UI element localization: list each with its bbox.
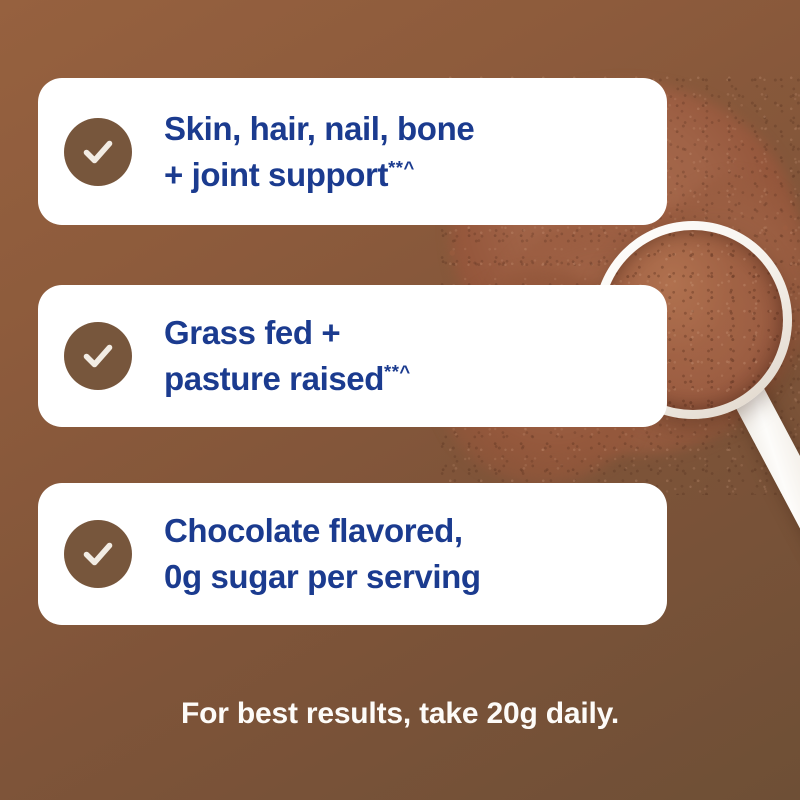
promo-graphic: Skin, hair, nail, bone+ joint support**^… [0, 0, 800, 800]
scoop-handle [678, 283, 800, 652]
benefit-card: Chocolate flavored,0g sugar per serving [38, 483, 667, 625]
benefit-card-text: Chocolate flavored,0g sugar per serving [164, 508, 481, 599]
benefit-superscript: **^ [384, 361, 411, 382]
benefit-card: Skin, hair, nail, bone+ joint support**^ [38, 78, 667, 225]
benefit-line-1: Chocolate flavored, [164, 512, 463, 549]
check-icon [64, 322, 132, 390]
benefit-line-2: 0g sugar per serving [164, 558, 481, 595]
usage-instruction: For best results, take 20g daily. [0, 697, 800, 731]
benefit-line-1: Skin, hair, nail, bone [164, 110, 474, 147]
benefit-line-1: Grass fed + [164, 314, 340, 351]
benefit-card-text: Skin, hair, nail, bone+ joint support**^ [164, 106, 474, 197]
benefit-line-2: pasture raised [164, 360, 384, 397]
benefit-line-2: + joint support [164, 156, 388, 193]
powder-mound-right [655, 175, 800, 395]
check-icon [64, 520, 132, 588]
benefit-card-text: Grass fed +pasture raised**^ [164, 310, 411, 401]
benefit-card: Grass fed +pasture raised**^ [38, 285, 667, 427]
benefit-superscript: **^ [388, 157, 415, 178]
check-icon [64, 118, 132, 186]
